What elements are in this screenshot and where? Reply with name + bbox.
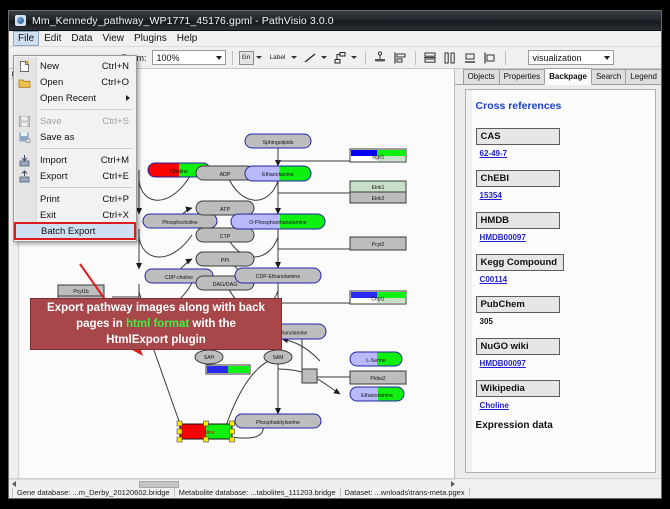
file-menu-save-as[interactable]: Save as [14,129,136,145]
backpage-entry-chebi: ChEBI 15354 [476,168,655,200]
file-menu-exit-label: Exit [40,210,56,221]
node-ppi-label: PPi [221,258,229,264]
visualization-value: visualization [533,53,582,63]
backpage-scrollbar[interactable] [466,90,472,472]
window-title: Mm_Kennedy_pathway_WP1771_45176.gpml - P… [32,15,334,27]
node-adp-label: ADP [219,172,230,178]
hmdb-header: HMDB [476,212,560,229]
status-metabolite-database: Metabolite database: ...tabolites_111203… [175,488,341,497]
status-bar: Gene database: ...m_Derby_20120602.bridg… [9,478,661,498]
label-icon[interactable]: Label [267,49,289,66]
annotation-line-3: HtmlExport plugin [106,332,206,348]
gene-ptdss2-label: Ptdss2 [370,376,386,382]
file-menu-batch-export-label: Batch Export [41,226,95,237]
status-gene-database: Gene database: ...m_Derby_20120602.bridg… [12,488,175,497]
line-dropdown-arrow-icon[interactable] [321,56,327,59]
annotation-callout: Export pathway images along with back pa… [30,298,282,350]
pathvisio-window: Mm_Kennedy_pathway_WP1771_45176.gpml - P… [8,10,662,499]
chevron-down-icon [216,56,222,60]
pathway-anchor-box[interactable] [302,369,317,383]
annotation-line-2c: with the [189,318,236,330]
node-choline-selected-label: Choline [198,430,215,436]
menu-data[interactable]: Data [66,31,97,46]
gene-etnk2-label: Etnk2 [372,196,385,202]
backpage-entry-hmdb: HMDB HMDB00097 [476,210,655,242]
file-menu-export-accel: Ctrl+E [102,171,129,182]
annotation-line-2: pages in html format with the [76,316,236,332]
gene-pcyt1b-label: Pcyt1b [73,289,89,295]
file-menu-import-label: Import [40,155,67,166]
node-sah-label: SAH [204,355,215,361]
tab-objects[interactable]: Objects [463,69,500,84]
kegg-compound-header: Kegg Compound [476,254,565,271]
node-ctp-label: CTP [220,234,231,240]
node-phosphocholine-label: Phosphocholine [162,220,198,226]
zoom-value: 100% [157,53,180,63]
expression-data-heading: Expression data [476,420,655,431]
datanode-icon-label: Gn [242,54,251,61]
file-menu-export[interactable]: Export Ctrl+E [14,168,136,184]
align-bottom-icon[interactable] [462,49,479,66]
backpage-entry-cas: CAS 62-49-7 [476,126,655,158]
file-menu-separator-3 [40,187,132,188]
zoom-combo[interactable]: 100% [152,50,226,65]
tab-legend[interactable]: Legend [625,69,662,84]
file-menu-save-as-label: Save as [40,132,74,143]
file-menu-exit[interactable]: Exit Ctrl+X [14,207,136,223]
gene-cept1-label: Cept1 [371,297,385,303]
cas-link[interactable]: 62-49-7 [480,149,655,158]
wikipedia-header: Wikipedia [476,380,560,397]
file-menu-print-label: Print [40,194,60,205]
menu-view[interactable]: View [97,31,129,46]
pathvisio-icon [15,15,26,26]
backpage-content[interactable]: Cross references CAS 62-49-7 ChEBI 15354… [465,89,656,473]
menu-bar: File Edit Data View Plugins Help [9,31,661,47]
nugo-wiki-header: NuGO wiki [476,338,560,355]
menu-edit[interactable]: Edit [39,31,66,46]
node-phosphatidylserine-label: Phosphatidylserine [256,420,300,426]
interaction-icon[interactable] [332,49,349,66]
line-icon[interactable] [302,49,319,66]
interaction-dropdown-arrow-icon[interactable] [351,56,357,59]
align-right-icon[interactable] [482,49,499,66]
node-atp-label: ATP [220,207,230,213]
new-file-icon [18,60,31,73]
toolbar-separator-3 [415,51,416,65]
node-ethanolamine-label: Ethanolamine [262,172,294,178]
save-as-icon [18,131,31,144]
label-icon-label: Label [270,54,286,61]
gene-pcyt2-label: Pcyt2 [372,242,385,248]
tab-search[interactable]: Search [591,69,626,84]
tab-backpage[interactable]: Backpage [544,68,592,85]
node-l-serine-label: L-Serine [366,358,386,364]
node-dagdag-label: DAG/DAG [213,282,238,288]
chevron-down-icon-2 [604,56,610,60]
kegg-compound-link[interactable]: C00114 [480,275,655,284]
node-cdp-choline-label: CDP-choline [165,275,193,281]
save-icon [18,115,31,128]
file-menu-new-label: New [40,61,59,72]
nugo-wiki-link[interactable]: HMDB00097 [480,359,655,368]
side-panel-tabs: Objects Properties Backpage Search Legen… [455,69,661,85]
file-menu-separator-2 [40,148,132,149]
cas-header: CAS [476,128,560,145]
annotation-line-1: Export pathway images along with back [47,300,265,316]
annotation-highlight: html format [126,318,189,330]
node-cdp-ethanolamine-label: CDP-Ethanolamine [256,274,301,280]
screenshot-root: Mm_Kennedy_pathway_WP1771_45176.gpml - P… [0,0,670,509]
status-dataset: Dataset: ...wnloads\trans-meta.pgex [341,488,470,497]
file-menu-open-accel: Ctrl+O [101,77,129,88]
import-icon [18,154,31,167]
file-menu-open-recent-label: Open Recent [40,93,96,104]
side-panel: Objects Properties Backpage Search Legen… [455,69,661,478]
node-ethanolamine-2-label: Ethanolamine [361,393,393,399]
file-menu-open-recent[interactable]: Open Recent [14,90,136,106]
align-left-icon[interactable] [392,49,409,66]
chebi-header: ChEBI [476,170,560,187]
file-menu-new-accel: Ctrl+N [102,61,129,72]
datanode-dropdown-arrow-icon[interactable] [256,56,262,59]
annotation-line-2a: pages in [76,318,126,330]
export-icon [18,170,31,183]
file-menu-import[interactable]: Import Ctrl+M [14,152,136,168]
submenu-arrow-icon [126,95,130,101]
file-menu-save-label: Save [40,116,62,127]
file-menu-exit-accel: Ctrl+X [102,210,129,221]
chebi-link[interactable]: 15354 [480,191,655,200]
open-folder-icon [18,76,31,89]
align-stack-icon[interactable] [422,49,439,66]
file-menu-new[interactable]: New Ctrl+N [14,58,136,74]
pc-expression-box [206,365,250,374]
gene-etnk1-label: Etnk1 [372,185,385,191]
menu-plugins[interactable]: Plugins [129,31,172,46]
toolbar-separator [232,51,233,65]
backpage-entry-wikipedia: Wikipedia Choline [476,378,655,410]
cross-references-heading: Cross references [476,100,655,112]
gene-sgpl1-label: Sgpl1 [372,155,385,161]
menu-file[interactable]: File [13,31,39,46]
title-bar: Mm_Kennedy_pathway_WP1771_45176.gpml - P… [9,11,661,31]
anchor-icon[interactable] [372,49,389,66]
file-menu-save-accel: Ctrl+S [102,116,129,127]
file-menu-print-accel: Ctrl+P [102,194,129,205]
toolbar-separator-2 [365,51,366,65]
node-sam-label: SAM [273,355,284,361]
tab-properties[interactable]: Properties [499,69,545,84]
node-choline-label: Choline [170,169,188,175]
datanode-icon[interactable]: Gn [239,51,254,65]
align-center-icon[interactable] [442,49,459,66]
toolbar-separator-4 [505,51,506,65]
visualization-combo[interactable]: visualization [528,50,614,65]
node-o-phosphoethanolamine-label: O-Phosphoethanolamine [249,220,307,226]
file-menu-export-label: Export [40,171,67,182]
backpage-entry-nugo: NuGO wiki HMDB00097 [476,336,655,368]
file-menu-separator-1 [40,109,132,110]
pubchem-value: 305 [480,317,655,326]
hmdb-link[interactable]: HMDB00097 [480,233,655,242]
wikipedia-link[interactable]: Choline [480,401,655,410]
file-menu-print[interactable]: Print Ctrl+P [14,191,136,207]
backpage-entry-kegg: Kegg Compound C00114 [476,252,655,284]
file-menu-popup[interactable]: New Ctrl+N Open Ctrl+O Open Recent Save … [13,55,137,242]
pubchem-header: PubChem [476,296,560,313]
file-menu-save[interactable]: Save Ctrl+S [14,113,136,129]
file-menu-import-accel: Ctrl+M [101,155,129,166]
file-menu-batch-export[interactable]: Batch Export [15,223,135,239]
label-dropdown-arrow-icon[interactable] [291,56,297,59]
menu-help[interactable]: Help [172,31,203,46]
backpage-entry-pubchem: PubChem 305 [476,294,655,326]
node-sphingolipids-label: Sphingolipids [263,140,294,146]
status-line: Gene database: ...m_Derby_20120602.bridg… [9,487,661,498]
file-menu-open[interactable]: Open Ctrl+O [14,74,136,90]
file-menu-open-label: Open [40,77,63,88]
